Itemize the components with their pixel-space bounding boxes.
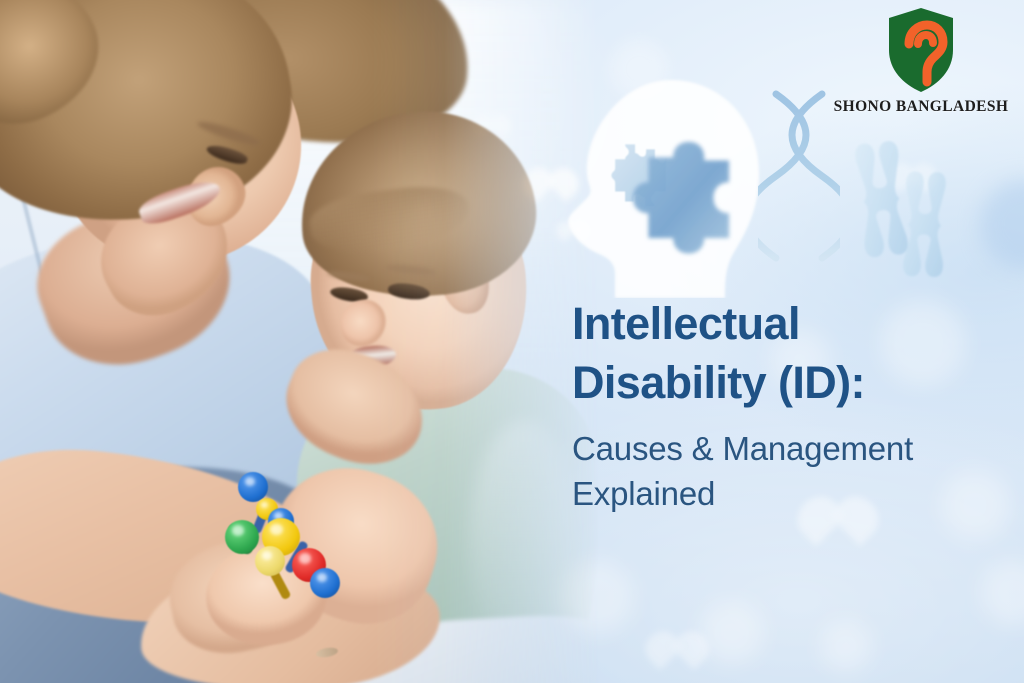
page-subtitle: Causes & Management Explained [572,426,1002,516]
bokeh-circle [820,620,872,672]
dna-helix-icon [758,88,840,278]
headline-block: Intellectual Disability (ID): Causes & M… [572,294,1002,516]
chromosome-icon [838,140,973,280]
head-profile-icon [553,78,768,298]
page-title-line-1: Intellectual [572,294,1002,353]
toy-bead-blue [310,568,340,598]
brand-name: SHONO BANGLADESH [834,98,1009,116]
page-subtitle-line-1: Causes & Management [572,426,1002,471]
heart-bokeh-icon [660,640,694,670]
brand-logo[interactable]: SHONO BANGLADESH [836,6,1006,134]
page-title-line-2: Disability (ID): [572,353,1002,412]
hero-photo [0,0,600,683]
page-subtitle-line-2: Explained [572,471,1002,516]
shield-ear-icon [885,6,957,94]
bokeh-circle [700,600,764,664]
promo-banner: SHONO BANGLADESH Intellectual Disability… [0,0,1024,683]
toy-bead-green [225,520,259,554]
toy-bead-yellow-pale [255,546,285,576]
